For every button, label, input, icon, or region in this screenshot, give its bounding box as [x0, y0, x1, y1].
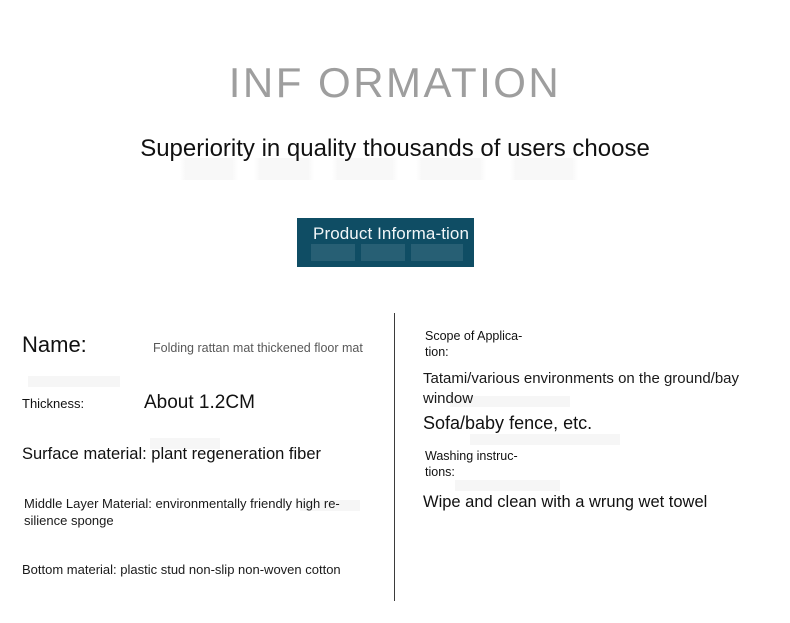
background-ghost-mark	[470, 434, 620, 445]
tab-watermark	[311, 244, 463, 261]
background-ghost-mark	[455, 480, 560, 491]
page-title: INF ORMATION	[0, 58, 790, 108]
bottom-material-text: Bottom material: plastic stud non-slip n…	[22, 562, 377, 577]
product-information-tab[interactable]: Product Informa-tion	[297, 218, 474, 267]
washing-instructions-value: Wipe and clean with a wrung wet towel	[423, 493, 768, 512]
thickness-value: About 1.2CM	[144, 392, 255, 414]
background-ghost-mark	[28, 376, 120, 387]
scope-of-application-value-secondary: Sofa/baby fence, etc.	[423, 413, 768, 434]
product-name-value: Folding rattan mat thickened floor mat	[153, 341, 363, 355]
product-information-page: INF ORMATION Superiority in quality thou…	[0, 0, 790, 623]
surface-material-text: Surface material: plant regeneration fib…	[22, 445, 377, 464]
washing-instructions-label: Washing instruc- tions:	[425, 448, 605, 480]
product-name-label: Name:	[22, 332, 87, 358]
thickness-label: Thickness:	[22, 396, 84, 411]
middle-layer-material-text: Middle Layer Material: environmentally f…	[24, 496, 354, 529]
column-divider	[394, 313, 395, 601]
page-subtitle: Superiority in quality thousands of user…	[0, 134, 790, 164]
product-information-tab-label: Product Informa-tion	[313, 224, 469, 243]
scope-of-application-label: Scope of Applica- tion:	[425, 328, 605, 360]
scope-of-application-value-primary: Tatami/various environments on the groun…	[423, 369, 768, 409]
